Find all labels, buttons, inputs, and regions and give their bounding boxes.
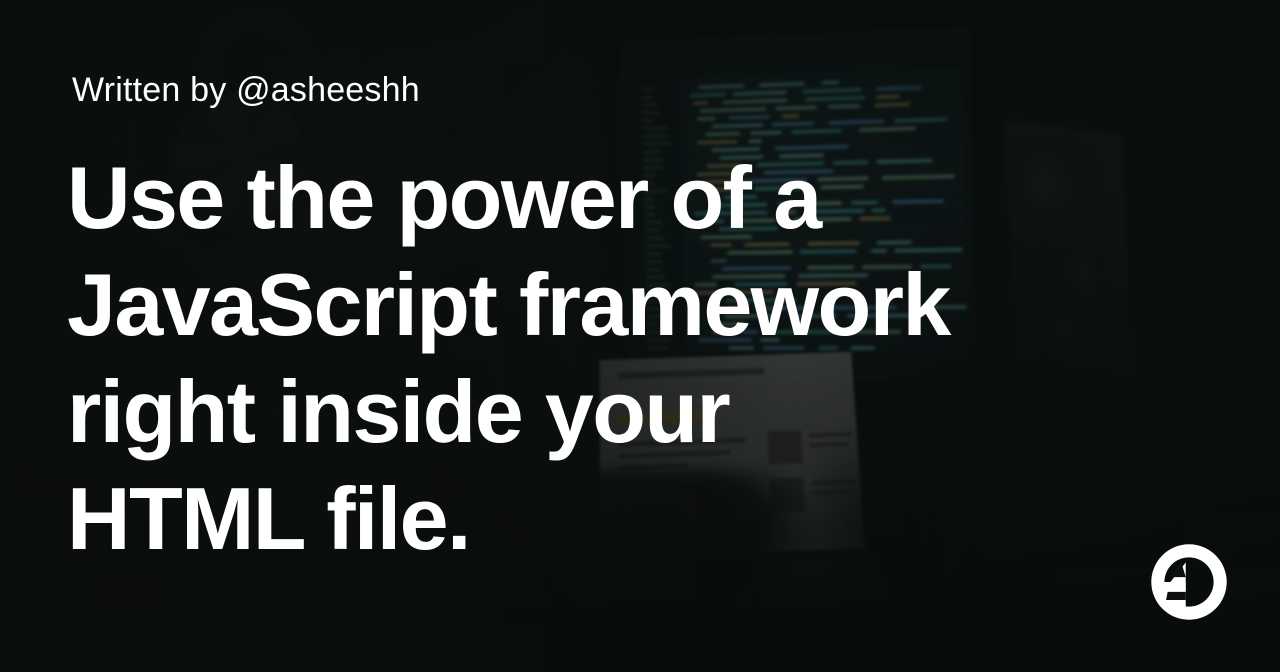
- brand-logo: [1146, 541, 1232, 623]
- headline: Use the power of a JavaScript framework …: [67, 144, 1242, 572]
- devdojo-d-logo-icon: [1146, 541, 1232, 623]
- headline-line-4: HTML file.: [67, 465, 1242, 572]
- headline-line-2: JavaScript framework: [67, 251, 1242, 358]
- headline-line-3: right inside your: [67, 358, 1242, 465]
- author-byline: Written by @asheeshh: [72, 71, 420, 110]
- headline-line-1: Use the power of a: [67, 144, 1242, 251]
- share-card: Written by @asheeshh Use the power of a …: [0, 0, 1280, 672]
- logo-inner-gap: [1166, 592, 1186, 600]
- card-content: Written by @asheeshh Use the power of a …: [72, 0, 1232, 672]
